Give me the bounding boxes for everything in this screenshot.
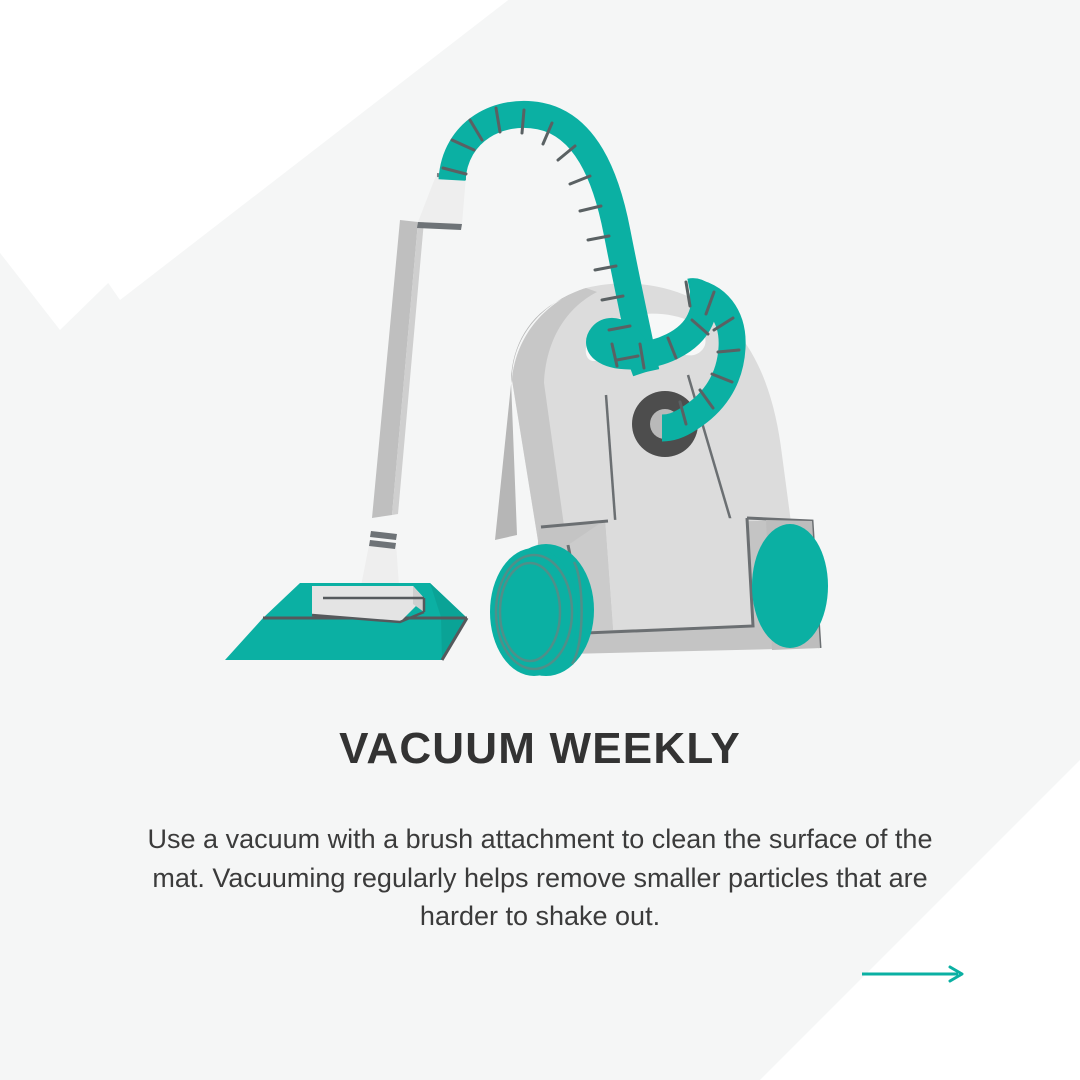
- vacuum-cleaner-illustration: [0, 0, 1080, 700]
- page-title: VACUUM WEEKLY: [0, 726, 1080, 772]
- wheel-rear-outer: [752, 524, 828, 648]
- vacuum-wand: [361, 173, 466, 586]
- body-front-panel: [605, 518, 753, 630]
- text-block: VACUUM WEEKLY Use a vacuum with a brush …: [0, 726, 1080, 935]
- floor-nozzle: [225, 583, 467, 660]
- wheel-front-outer: [490, 548, 578, 676]
- slide-card: VACUUM WEEKLY Use a vacuum with a brush …: [0, 0, 1080, 1080]
- wand-collar-lower-edge2: [370, 531, 397, 540]
- wand-collar-upper: [418, 173, 466, 224]
- next-arrow[interactable]: [862, 962, 970, 986]
- body-description: Use a vacuum with a brush attachment to …: [140, 820, 940, 935]
- wand-tube-lower: [372, 220, 418, 518]
- vacuum-wheel-front: [490, 544, 594, 676]
- nozzle-base-front: [225, 618, 467, 660]
- vacuum-wheel-rear: [752, 524, 828, 648]
